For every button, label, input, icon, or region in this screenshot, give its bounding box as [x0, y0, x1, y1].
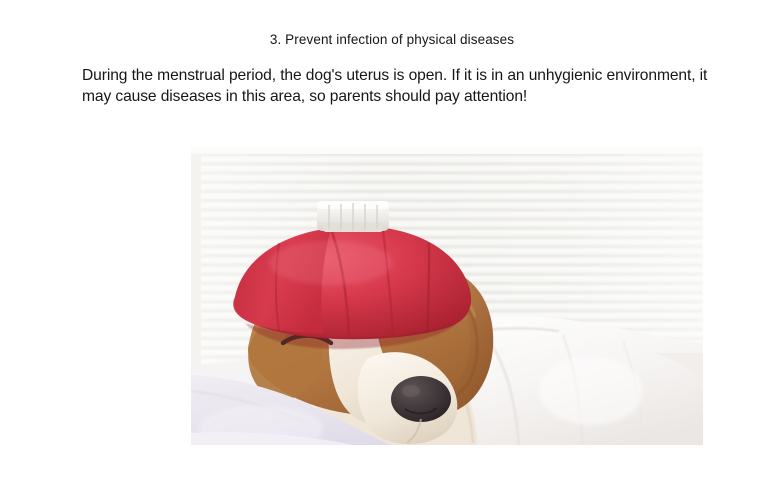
sick-dog-illustration [191, 147, 703, 461]
page-bottom-spacer [0, 445, 784, 486]
body-paragraph: During the menstrual period, the dog's u… [82, 66, 732, 107]
beagle-nose [391, 376, 451, 422]
section-heading: 3. Prevent infection of physical disease… [0, 31, 784, 49]
article-page: 3. Prevent infection of physical disease… [0, 0, 784, 486]
article-photo [191, 147, 703, 461]
ice-pack-white-cap [317, 201, 389, 232]
